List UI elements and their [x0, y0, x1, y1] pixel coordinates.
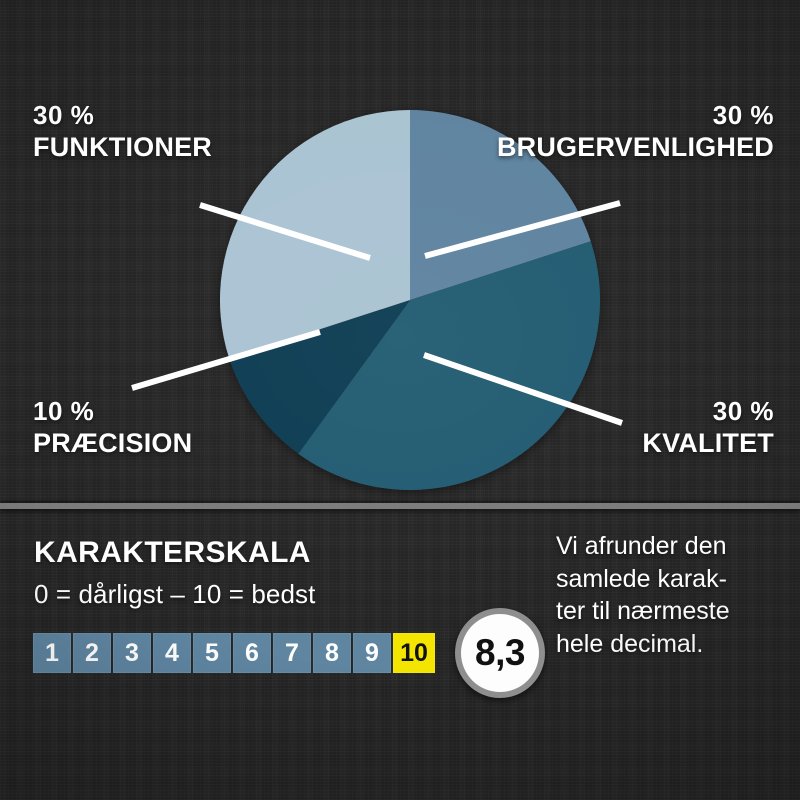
rounding-note-line-1: Vi afrunder den	[556, 530, 796, 563]
scale-box-2[interactable]: 2	[73, 633, 111, 673]
scale-box-9[interactable]: 9	[353, 633, 391, 673]
scale-boxes: 1 2 3 4 5 6 7 8 9 10	[33, 633, 435, 673]
scale-subtitle: 0 = dårligst – 10 = bedst	[34, 579, 315, 610]
pie-label-funktioner: 30 % FUNKTIONER	[33, 102, 212, 162]
pie-label-brugervenlighed: 30 % BRUGERVENLIGHED	[497, 102, 774, 162]
scale-box-8[interactable]: 8	[313, 633, 351, 673]
scale-box-7[interactable]: 7	[273, 633, 311, 673]
rounding-note: Vi afrunder den samlede karak- ter til n…	[556, 530, 796, 660]
pie-label-funktioner-pct: 30 %	[33, 102, 212, 128]
pie-label-kvalitet-pct: 30 %	[642, 398, 774, 424]
rounding-note-line-4: hele decimal.	[556, 628, 796, 661]
scale-box-5[interactable]: 5	[193, 633, 231, 673]
score-value: 8,3	[475, 634, 525, 671]
scale-box-4[interactable]: 4	[153, 633, 191, 673]
scale-title: KARAKTERSKALA	[34, 536, 311, 570]
scale-box-3[interactable]: 3	[113, 633, 151, 673]
scale-box-10-highlighted[interactable]: 10	[393, 633, 435, 673]
score-badge: 8,3	[455, 608, 545, 698]
pie-label-praecision-name: PRÆCISION	[33, 429, 192, 458]
scale-box-1[interactable]: 1	[33, 633, 71, 673]
pie-label-brugervenlighed-name: BRUGERVENLIGHED	[497, 133, 774, 162]
pie-label-praecision-pct: 10 %	[33, 398, 192, 424]
pie-label-brugervenlighed-pct: 30 %	[497, 102, 774, 128]
pie-chart-panel: 30 % FUNKTIONER 30 % BRUGERVENLIGHED 10 …	[0, 0, 800, 503]
rounding-note-line-3: ter til nærmeste	[556, 595, 796, 628]
rounding-note-line-2: samlede karak-	[556, 563, 796, 596]
infographic-canvas: 30 % FUNKTIONER 30 % BRUGERVENLIGHED 10 …	[0, 0, 800, 800]
pie-label-kvalitet: 30 % KVALITET	[642, 398, 774, 458]
pie-label-praecision: 10 % PRÆCISION	[33, 398, 192, 458]
pie-label-funktioner-name: FUNKTIONER	[33, 133, 212, 162]
scale-box-6[interactable]: 6	[233, 633, 271, 673]
pie-label-kvalitet-name: KVALITET	[642, 429, 774, 458]
